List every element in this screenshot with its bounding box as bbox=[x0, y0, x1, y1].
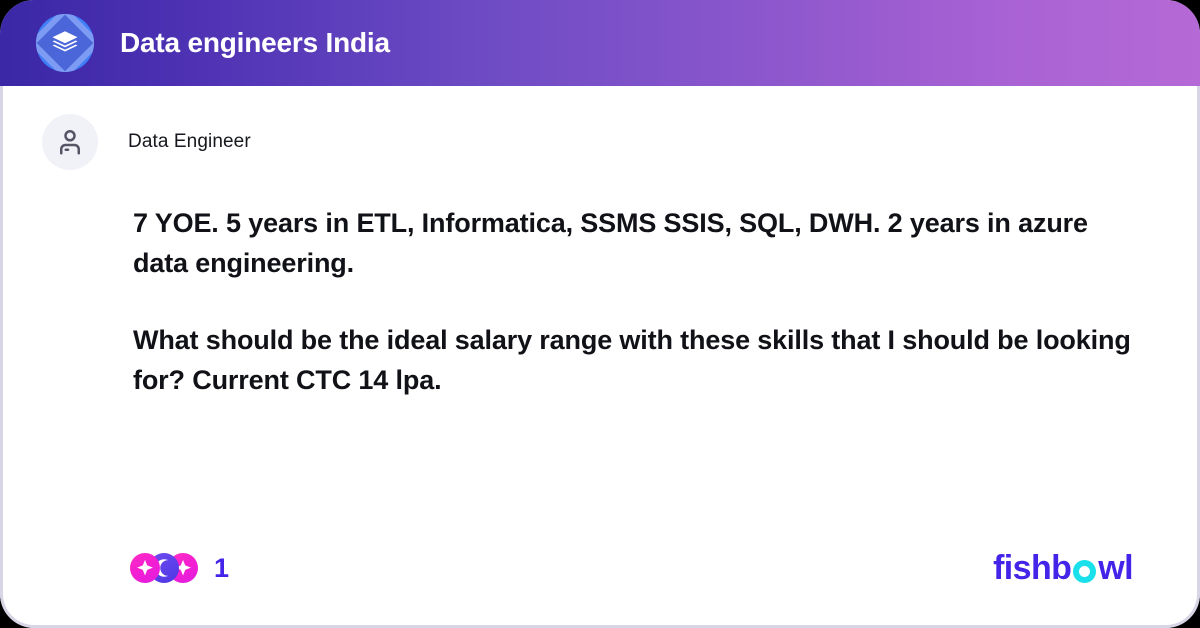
reaction-count: 1 bbox=[214, 555, 229, 582]
avatar bbox=[42, 114, 98, 170]
author-row: Data Engineer bbox=[3, 86, 1197, 170]
reaction-badge-stack[interactable] bbox=[130, 553, 198, 583]
reaction-badge-sparkle-star[interactable] bbox=[130, 553, 160, 583]
stacked-layers-icon bbox=[50, 28, 80, 58]
brand-text-first: fishb bbox=[993, 551, 1071, 585]
person-icon bbox=[55, 127, 85, 157]
group-title: Data engineers India bbox=[120, 27, 390, 59]
post-paragraph: 7 YOE. 5 years in ETL, Informatica, SSMS… bbox=[133, 204, 1137, 283]
sparkle-star-icon bbox=[134, 557, 156, 579]
group-header: Data engineers India bbox=[0, 0, 1200, 86]
post-text: 7 YOE. 5 years in ETL, Informatica, SSMS… bbox=[3, 170, 1197, 401]
post-body-container: Data Engineer 7 YOE. 5 years in ETL, Inf… bbox=[0, 86, 1200, 628]
author-name: Data Engineer bbox=[128, 131, 251, 153]
brand-text-last: wl bbox=[1098, 551, 1133, 585]
group-logo bbox=[36, 14, 94, 72]
brand-o-ring-icon bbox=[1073, 560, 1096, 583]
post-footer: 1 fishb wl bbox=[3, 545, 1197, 591]
reactions-group[interactable]: 1 bbox=[130, 553, 229, 583]
post-paragraph: What should be the ideal salary range wi… bbox=[133, 321, 1137, 400]
post-card: Data engineers India Data Engineer 7 YOE… bbox=[0, 0, 1200, 628]
fishbowl-logo: fishb wl bbox=[993, 551, 1133, 585]
